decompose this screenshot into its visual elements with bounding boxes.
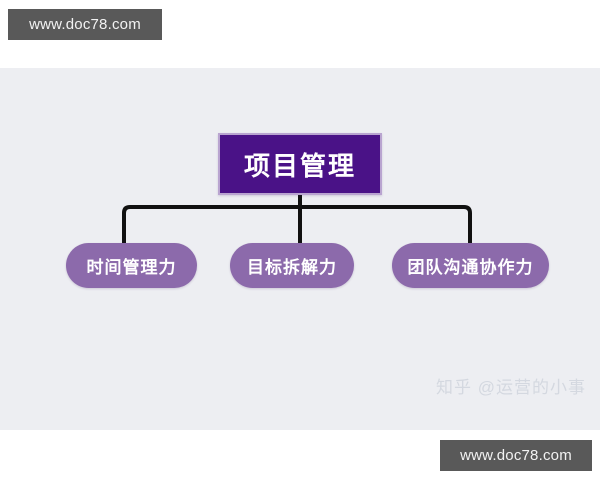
diagram-child-node-3[interactable]: 团队沟通协作力 xyxy=(392,243,549,288)
diagram-child-node-3-label: 团队沟通协作力 xyxy=(408,253,534,278)
diagram-root-node[interactable]: 项目管理 xyxy=(218,133,382,195)
diagram-child-node-2-label: 目标拆解力 xyxy=(247,253,337,278)
diagram-child-node-1-label: 时间管理力 xyxy=(87,253,177,278)
diagram-child-node-2[interactable]: 目标拆解力 xyxy=(230,243,354,288)
bottom-site-watermark-text: www.doc78.com xyxy=(460,447,572,464)
diagram-root-node-label: 项目管理 xyxy=(244,146,356,183)
top-site-watermark-badge: www.doc78.com xyxy=(8,9,162,40)
zhihu-watermark: 知乎 @运营的小事 xyxy=(436,373,586,398)
diagram-canvas: 项目管理 时间管理力 目标拆解力 团队沟通协作力 知乎 @运营的小事 xyxy=(0,68,600,430)
top-site-watermark-text: www.doc78.com xyxy=(29,16,141,33)
bottom-site-watermark-badge: www.doc78.com xyxy=(440,440,592,471)
diagram-child-node-1[interactable]: 时间管理力 xyxy=(66,243,197,288)
